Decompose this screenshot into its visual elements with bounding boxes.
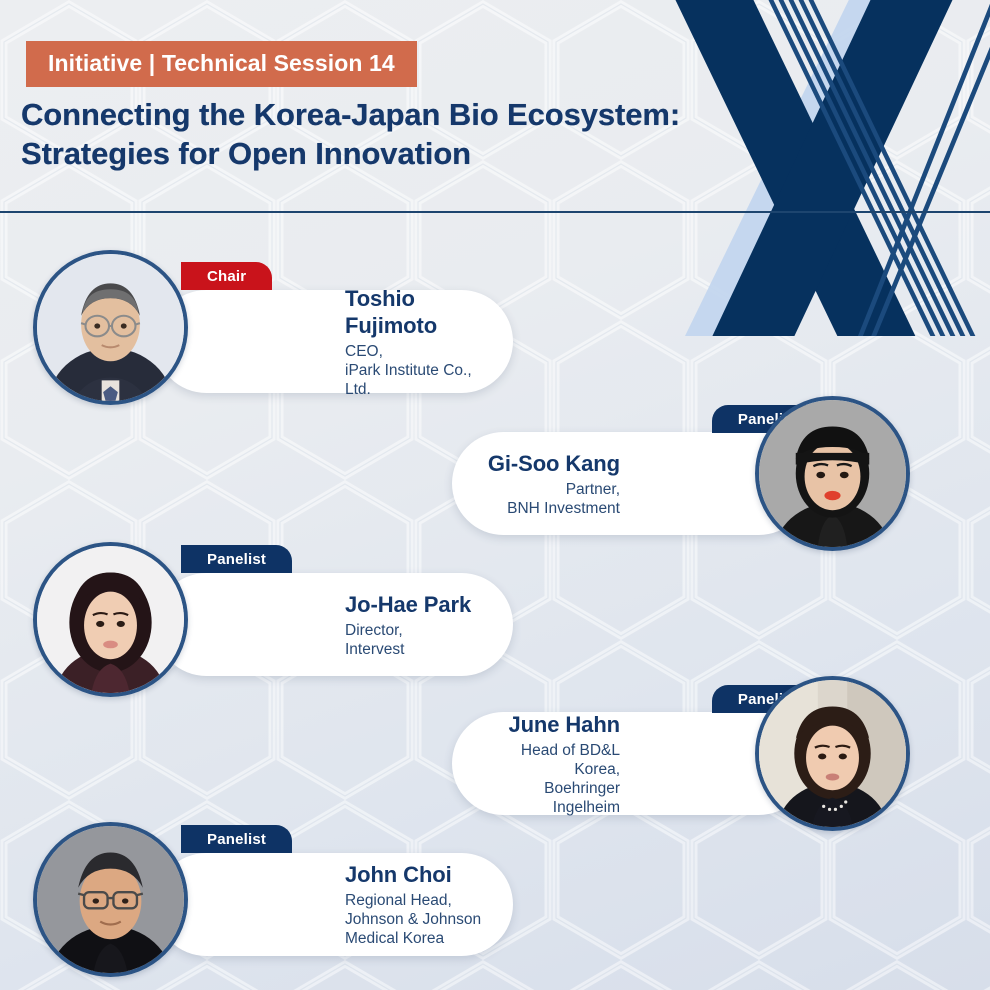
person-role-line-1: CEO, xyxy=(345,342,383,361)
person-name: June Hahn xyxy=(508,711,620,738)
person-card: John Choi Regional Head, Johnson & Johns… xyxy=(155,853,513,956)
title-line-2: Strategies for Open Innovation xyxy=(21,134,680,173)
page-title: Connecting the Korea-Japan Bio Ecosystem… xyxy=(21,95,680,173)
avatar-gi-soo-kang xyxy=(755,396,910,551)
person-role-line-1: Director, xyxy=(345,621,403,640)
role-badge-chair: Chair xyxy=(181,262,272,290)
person-role-line-2: Intervest xyxy=(345,640,404,659)
person-role-line-1: Partner, xyxy=(566,480,620,499)
person-row: Chair Toshio Fujimoto CEO, iPark Institu… xyxy=(0,250,560,420)
person-role-line-1: Head of BD&L Korea, xyxy=(482,741,620,779)
title-line-1: Connecting the Korea-Japan Bio Ecosystem… xyxy=(21,95,680,134)
person-card: Jo-Hae Park Director, Intervest xyxy=(155,573,513,676)
role-badge-panelist: Panelist xyxy=(181,545,292,573)
person-role-line-2: Boehringer Ingelheim xyxy=(482,779,620,817)
person-row: Panelist John Choi Regional Head, Johnso… xyxy=(0,810,560,990)
session-badge: Initiative | Technical Session 14 xyxy=(26,41,417,87)
person-role-line-2: BNH Investment xyxy=(507,499,620,518)
person-name: Toshio Fujimoto xyxy=(345,285,483,339)
person-role-line-1: Regional Head, xyxy=(345,891,452,910)
avatar-toshio-fujimoto xyxy=(33,250,188,405)
header-divider xyxy=(0,211,990,213)
person-name: John Choi xyxy=(345,861,452,888)
avatar-june-hahn xyxy=(755,676,910,831)
role-badge-panelist: Panelist xyxy=(181,825,292,853)
person-name: Jo-Hae Park xyxy=(345,591,471,618)
person-role-line-2: Johnson & Johnson Medical Korea xyxy=(345,910,483,948)
person-role-line-2: iPark Institute Co., Ltd. xyxy=(345,361,483,399)
avatar-john-choi xyxy=(33,822,188,977)
person-name: Gi-Soo Kang xyxy=(488,450,620,477)
avatar-jo-hae-park xyxy=(33,542,188,697)
person-card: Toshio Fujimoto CEO, iPark Institute Co.… xyxy=(155,290,513,393)
